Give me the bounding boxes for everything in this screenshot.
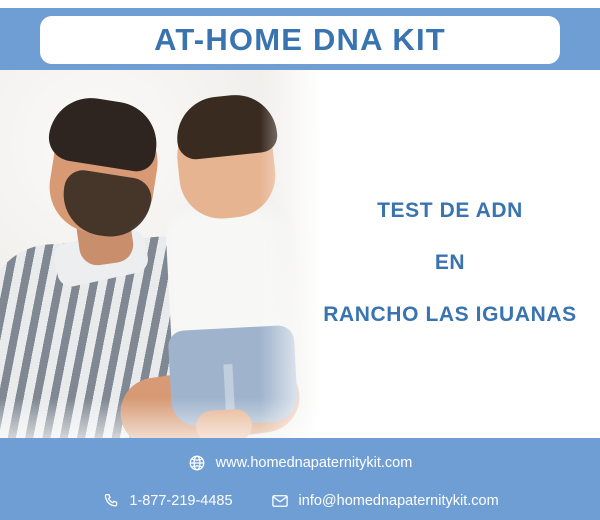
headline-line-3: RANCHO LAS IGUANAS: [323, 303, 576, 327]
footer-website-text: www.homednapaternitykit.com: [216, 455, 413, 471]
footer-email-text: info@homednapaternitykit.com: [299, 493, 499, 509]
father-and-child-photo: [0, 70, 330, 438]
main-content: TEST DE ADN EN RANCHO LAS IGUANAS: [0, 70, 600, 438]
header-pill: AT-HOME DNA KIT: [40, 16, 560, 64]
headline-line-2: EN: [435, 251, 465, 275]
footer-phone-text: 1-877-219-4485: [129, 493, 232, 509]
phone-icon: [101, 492, 120, 511]
footer-phone[interactable]: 1-877-219-4485: [101, 492, 232, 511]
footer-website[interactable]: www.homednapaternitykit.com: [188, 454, 413, 473]
photo-bottom-fade: [0, 398, 330, 438]
footer-contact-row: 1-877-219-4485 info@homednapaternitykit.…: [0, 482, 600, 520]
footer-bar: www.homednapaternitykit.com 1-877-219-44…: [0, 438, 600, 520]
footer-website-row: www.homednapaternitykit.com: [0, 438, 600, 482]
page-title: AT-HOME DNA KIT: [154, 22, 446, 58]
footer-email[interactable]: info@homednapaternitykit.com: [271, 492, 499, 511]
headline-block: TEST DE ADN EN RANCHO LAS IGUANAS: [300, 70, 600, 438]
globe-icon: [188, 454, 207, 473]
poster: AT-HOME DNA KIT TEST DE ADN EN RANCHO LA…: [0, 0, 600, 520]
headline-line-1: TEST DE ADN: [377, 199, 523, 223]
mail-icon: [271, 492, 290, 511]
